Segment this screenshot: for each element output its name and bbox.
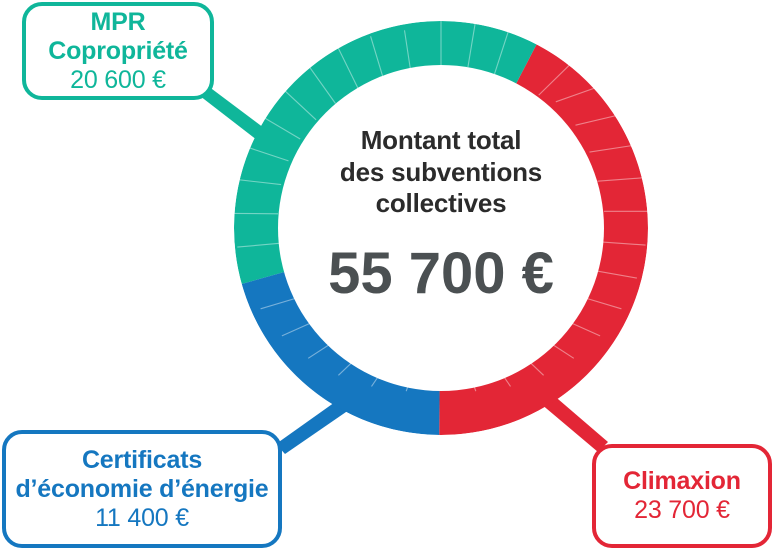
center-caption-line1: Montant total [291, 125, 591, 157]
center-caption-line3: collectives [291, 188, 591, 220]
callout-mpr-title-line2: Copropriété [48, 37, 187, 66]
callout-climaxion-value: 23 700 € [634, 496, 730, 525]
center-caption: Montant total des subventions collective… [291, 125, 591, 220]
center-caption-line2: des subventions [291, 157, 591, 189]
callout-mpr-value: 20 600 € [70, 66, 166, 95]
callout-climaxion[interactable]: Climaxion 23 700 € [592, 444, 772, 548]
donut-chart-infographic: Montant total des subventions collective… [0, 0, 774, 552]
callout-mpr-title-line1: MPR [91, 8, 146, 37]
callout-cee-title-line2: d’économie d’énergie [15, 475, 268, 504]
center-total-value: 55 700 € [291, 240, 591, 307]
center-total-block: Montant total des subventions collective… [291, 125, 591, 307]
callout-cee-value: 11 400 € [95, 504, 189, 533]
callout-mpr-copropriete[interactable]: MPR Copropriété 20 600 € [22, 2, 214, 100]
callout-climaxion-title: Climaxion [623, 467, 741, 496]
callout-certificats-economie-energie[interactable]: Certificats d’économie d’énergie 11 400 … [2, 430, 282, 548]
callout-cee-title-line1: Certificats [82, 446, 202, 475]
